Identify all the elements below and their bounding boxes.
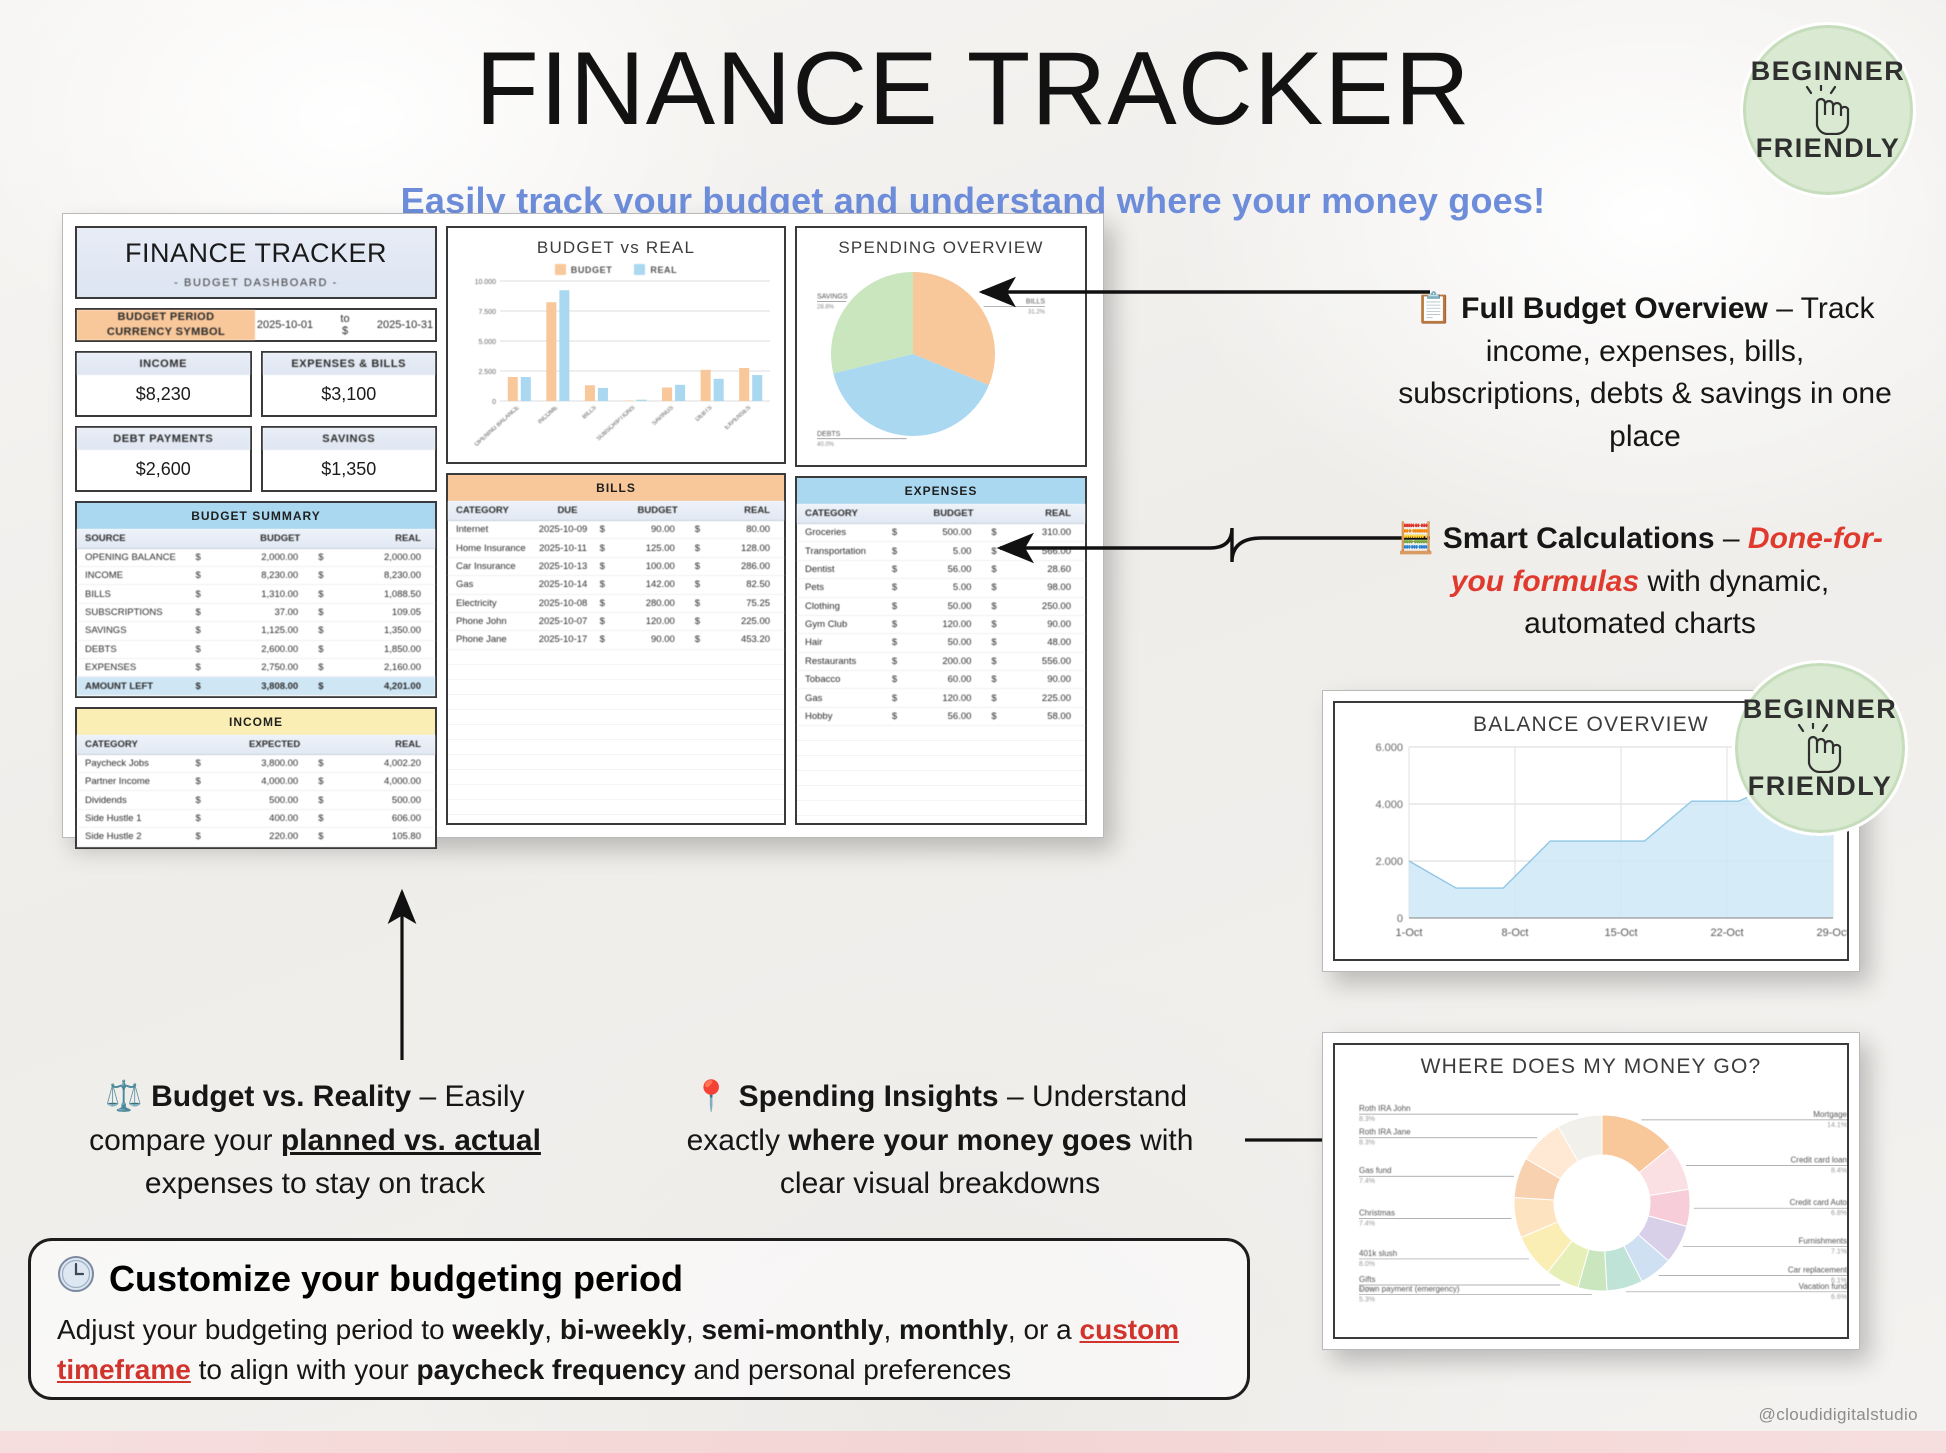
cell-currency: $ bbox=[189, 552, 218, 563]
legend-label: REAL bbox=[650, 265, 677, 275]
cell-currency: $ bbox=[189, 795, 218, 806]
cell-amount: 1,350.00 bbox=[342, 625, 435, 636]
svg-text:DEBTS: DEBTS bbox=[695, 405, 714, 423]
cell-name: Phone John bbox=[448, 616, 532, 627]
cell-currency: $ bbox=[886, 637, 910, 648]
table-row[interactable]: Transportation$5.00$566.00 bbox=[797, 542, 1085, 560]
svg-text:14.1%: 14.1% bbox=[1827, 1122, 1847, 1129]
annotation-rest: expenses to stay on track bbox=[145, 1167, 485, 1200]
cell-name: Side Hustle 1 bbox=[77, 813, 189, 824]
stat-value: $3,100 bbox=[263, 375, 436, 415]
callout-heading: Customize your budgeting period bbox=[109, 1258, 683, 1300]
svg-text:28.8%: 28.8% bbox=[817, 304, 835, 310]
svg-text:8-Oct: 8-Oct bbox=[1502, 927, 1529, 939]
table-row[interactable]: BILLS$1,310.00$1,088.50 bbox=[77, 585, 435, 603]
cell-amount: 56.00 bbox=[910, 711, 985, 722]
cell-currency: $ bbox=[886, 674, 910, 685]
annotation-bold2: where your money goes bbox=[788, 1124, 1131, 1157]
legend-swatch bbox=[555, 264, 566, 275]
cell-name: Electricity bbox=[448, 598, 532, 609]
cell-currency: $ bbox=[312, 813, 341, 824]
cell-currency: $ bbox=[312, 662, 341, 673]
cell-currency: $ bbox=[189, 644, 218, 655]
svg-text:7.500: 7.500 bbox=[478, 309, 496, 316]
svg-text:4.000: 4.000 bbox=[1375, 799, 1403, 811]
cell-currency: $ bbox=[312, 795, 341, 806]
annotation-underlined: planned vs. actual bbox=[281, 1124, 541, 1157]
cell-amount: 60.00 bbox=[910, 674, 985, 685]
svg-text:DEBTS: DEBTS bbox=[817, 431, 841, 438]
svg-text:40.0%: 40.0% bbox=[817, 442, 835, 448]
cell-amount: 4,000.00 bbox=[219, 776, 312, 787]
pin-icon: 📍 bbox=[693, 1080, 730, 1113]
cell-amount: 2,000.00 bbox=[342, 552, 435, 563]
callout-semi-monthly: semi-monthly bbox=[701, 1314, 883, 1345]
cell-amount: 500.00 bbox=[342, 795, 435, 806]
table-column-headers: SOURCE BUDGET REAL bbox=[77, 529, 435, 549]
cell-amount: 120.00 bbox=[910, 619, 985, 630]
expenses-table[interactable]: EXPENSES CATEGORY BUDGET REAL Groceries$… bbox=[795, 476, 1087, 825]
cell-currency: $ bbox=[189, 625, 218, 636]
cell-currency: $ bbox=[189, 607, 218, 618]
legend-swatch bbox=[634, 264, 645, 275]
cell-amount: 58.00 bbox=[1010, 711, 1085, 722]
beginner-friendly-badge-top: BEGINNER FRIENDLY bbox=[1740, 22, 1916, 198]
table-row[interactable]: Pets$5.00$98.00 bbox=[797, 579, 1085, 597]
stat-card-income: INCOME $8,230 bbox=[75, 351, 252, 417]
cell-currency: $ bbox=[312, 625, 341, 636]
spending-overview-chart-card: SPENDING OVERVIEW BILLS31.2%DEBTS40.0%SA… bbox=[795, 226, 1087, 467]
table-header: BILLS bbox=[448, 475, 784, 501]
svg-text:15-Oct: 15-Oct bbox=[1604, 927, 1637, 939]
cell-name: Dentist bbox=[797, 564, 886, 575]
cell-currency: $ bbox=[985, 711, 1009, 722]
stat-value: $8,230 bbox=[77, 375, 250, 415]
scales-icon: ⚖️ bbox=[105, 1080, 142, 1113]
cell-amount: 8,230.00 bbox=[219, 570, 312, 581]
table-row[interactable]: Side Hustle 1$400.00$606.00 bbox=[77, 810, 435, 828]
cell-amount: 109.05 bbox=[342, 607, 435, 618]
cell-currency: $ bbox=[985, 546, 1009, 557]
table-row[interactable]: Car Insurance2025-10-13$100.00$286.00 bbox=[448, 558, 784, 576]
cell-amount: 120.00 bbox=[617, 616, 689, 627]
stat-cards: INCOME $8,230 EXPENSES & BILLS $3,100 DE… bbox=[75, 351, 437, 492]
cell-amount: 500.00 bbox=[219, 795, 312, 806]
cell-name: Side Hustle 2 bbox=[77, 831, 189, 842]
cell-name: Hobby bbox=[797, 711, 886, 722]
cell-amount: 98.00 bbox=[1010, 582, 1085, 593]
cell-currency: $ bbox=[886, 656, 910, 667]
beginner-friendly-badge-bottom: BEGINNER FRIENDLY bbox=[1732, 660, 1908, 836]
cell-amount: 2,000.00 bbox=[219, 552, 312, 563]
svg-text:8.3%: 8.3% bbox=[1359, 1116, 1375, 1123]
annotation-bold: Smart Calculations bbox=[1443, 522, 1715, 555]
cell-amount: 556.00 bbox=[1010, 656, 1085, 667]
cell-amount: 56.00 bbox=[910, 564, 985, 575]
budget-dashboard-sheet[interactable]: FINANCE TRACKER - BUDGET DASHBOARD - BUD… bbox=[62, 213, 1104, 838]
cell-amount: 280.00 bbox=[617, 598, 689, 609]
table-row[interactable]: Hair$50.00$48.00 bbox=[797, 634, 1085, 652]
cell-amount: 8,230.00 bbox=[342, 570, 435, 581]
svg-text:7.4%: 7.4% bbox=[1359, 1221, 1375, 1228]
cell-amount: 453.20 bbox=[712, 634, 784, 645]
cell-currency: $ bbox=[312, 831, 341, 842]
annotation-bold: Budget vs. Reality bbox=[151, 1080, 411, 1113]
col-header: SOURCE bbox=[77, 533, 193, 544]
watermark: @cloudidigitalstudio bbox=[1759, 1405, 1918, 1425]
table-row[interactable]: EXPENSES$2,750.00$2,160.00 bbox=[77, 659, 435, 677]
cell-currency: $ bbox=[689, 616, 712, 627]
cell-name: Home Insurance bbox=[448, 543, 532, 554]
cell-currency: $ bbox=[985, 619, 1009, 630]
table-header: EXPENSES bbox=[797, 478, 1085, 504]
table-row[interactable]: Side Hustle 2$220.00$105.80 bbox=[77, 828, 435, 846]
cell-currency: $ bbox=[689, 543, 712, 554]
cell-currency: $ bbox=[886, 601, 910, 612]
cell-currency: $ bbox=[594, 579, 617, 590]
callout-biweekly: bi-weekly bbox=[560, 1314, 686, 1345]
callout-weekly: weekly bbox=[452, 1314, 544, 1345]
cell-amount: 50.00 bbox=[910, 637, 985, 648]
cell-name: SAVINGS bbox=[77, 625, 189, 636]
callout-monthly: monthly bbox=[899, 1314, 1008, 1345]
cell-amount: 220.00 bbox=[219, 831, 312, 842]
svg-text:SUBSCRIPTIONS: SUBSCRIPTIONS bbox=[596, 405, 636, 442]
table-row[interactable]: Phone John2025-10-07$120.00$225.00 bbox=[448, 613, 784, 631]
cell-amount: 2,600.00 bbox=[219, 644, 312, 655]
table-row[interactable]: SAVINGS$1,125.00$1,350.00 bbox=[77, 622, 435, 640]
table-row[interactable]: Dentist$56.00$28.60 bbox=[797, 561, 1085, 579]
cell-amount: 105.80 bbox=[342, 831, 435, 842]
cell-amount: 4,002.20 bbox=[342, 758, 435, 769]
annotation-full-budget: 📋 Full Budget Overview – Track income, e… bbox=[1390, 288, 1900, 458]
cell-name: Gym Club bbox=[797, 619, 886, 630]
svg-text:7.4%: 7.4% bbox=[1359, 1178, 1375, 1185]
col-header: DUE bbox=[536, 505, 600, 516]
stat-label: INCOME bbox=[77, 353, 250, 375]
cell-amount: 200.00 bbox=[910, 656, 985, 667]
cell-amount: 310.00 bbox=[1010, 527, 1085, 538]
cell-name: EXPENSES bbox=[77, 662, 189, 673]
cell-amount: 3,800.00 bbox=[219, 758, 312, 769]
table-row[interactable]: OPENING BALANCE$2,000.00$2,000.00 bbox=[77, 549, 435, 567]
table-row[interactable]: Gym Club$120.00$90.00 bbox=[797, 616, 1085, 634]
col-header: BUDGET bbox=[218, 533, 314, 544]
cell-currency: $ bbox=[312, 758, 341, 769]
table-row[interactable]: Hobby$56.00$58.00 bbox=[797, 708, 1085, 726]
chart-title: WHERE DOES MY MONEY GO? bbox=[1347, 1055, 1835, 1079]
svg-text:8.4%: 8.4% bbox=[1831, 1167, 1847, 1174]
cell-currency: $ bbox=[594, 598, 617, 609]
annotation-dash: – bbox=[1715, 522, 1748, 555]
cell-amount: 48.00 bbox=[1010, 637, 1085, 648]
cell-currency: $ bbox=[985, 656, 1009, 667]
cell-amount: 128.00 bbox=[712, 543, 784, 554]
table-row[interactable]: Home Insurance2025-10-11$125.00$128.00 bbox=[448, 539, 784, 557]
table-row[interactable]: Gas2025-10-14$142.00$82.50 bbox=[448, 576, 784, 594]
table-column-headers: CATEGORY BUDGET REAL bbox=[797, 504, 1085, 524]
svg-text:Credit card Auto: Credit card Auto bbox=[1790, 1198, 1848, 1207]
cell-currency: $ bbox=[985, 601, 1009, 612]
budget-summary-table[interactable]: BUDGET SUMMARY SOURCE BUDGET REAL OPENIN… bbox=[75, 501, 437, 698]
cell-currency: $ bbox=[985, 564, 1009, 575]
table-empty-rows bbox=[448, 650, 784, 823]
cell-currency: $ bbox=[594, 543, 617, 554]
cell-currency: $ bbox=[689, 561, 712, 572]
cell-currency: $ bbox=[985, 674, 1009, 685]
svg-text:Christmas: Christmas bbox=[1359, 1209, 1395, 1218]
cell-currency: $ bbox=[189, 662, 218, 673]
cell-currency: $ bbox=[886, 693, 910, 704]
cell-amount: 50.00 bbox=[910, 601, 985, 612]
donut-chart-svg: Mortgage14.1%Credit card loan8.4%Credit … bbox=[1347, 1079, 1857, 1327]
cell-amount: 82.50 bbox=[712, 579, 784, 590]
table-empty-rows bbox=[797, 726, 1085, 823]
svg-text:SAVINGS: SAVINGS bbox=[651, 405, 675, 427]
svg-text:10.000: 10.000 bbox=[475, 279, 497, 286]
svg-text:Credit card loan: Credit card loan bbox=[1791, 1155, 1847, 1164]
cell-currency: $ bbox=[985, 582, 1009, 593]
pie-chart-svg: BILLS31.2%DEBTS40.0%SAVINGS28.8% bbox=[809, 258, 1077, 450]
cell-due: 2025-10-14 bbox=[532, 579, 593, 590]
clock-icon bbox=[57, 1255, 95, 1302]
svg-text:Car replacement: Car replacement bbox=[1788, 1266, 1848, 1275]
income-rows: Paycheck Jobs$3,800.00$4,002.20Partner I… bbox=[77, 755, 435, 847]
cell-due: 2025-10-13 bbox=[532, 561, 593, 572]
cell-amount: 4,000.00 bbox=[342, 776, 435, 787]
budget-vs-real-chart-card: BUDGET vs REAL BUDGET REAL 10.0007.5005.… bbox=[446, 226, 786, 464]
cell-currency: $ bbox=[689, 579, 712, 590]
col-header: CATEGORY bbox=[797, 508, 890, 519]
table-row[interactable]: Restaurants$200.00$556.00 bbox=[797, 653, 1085, 671]
chart-title: SPENDING OVERVIEW bbox=[809, 238, 1073, 258]
svg-text:22-Oct: 22-Oct bbox=[1710, 927, 1743, 939]
cell-name: INCOME bbox=[77, 570, 189, 581]
cell-amount: 75.25 bbox=[712, 598, 784, 609]
col-header: BUDGET bbox=[617, 505, 692, 516]
budget-period-values[interactable]: 2025-10-01 to $ 2025-10-31 bbox=[255, 310, 435, 340]
hand-click-icon bbox=[1789, 723, 1851, 773]
cell-amount: 400.00 bbox=[219, 813, 312, 824]
svg-text:6.6%: 6.6% bbox=[1831, 1294, 1847, 1301]
cell-amount: 225.00 bbox=[1010, 693, 1085, 704]
cell-due: 2025-10-17 bbox=[532, 634, 593, 645]
svg-text:OPENING BALANCE: OPENING BALANCE bbox=[474, 405, 521, 447]
annotation-budget-vs-reality: ⚖️ Budget vs. Reality – Easily compare y… bbox=[80, 1075, 550, 1206]
cell-amount: 2,750.00 bbox=[219, 662, 312, 673]
table-row[interactable]: Clothing$50.00$250.00 bbox=[797, 598, 1085, 616]
cell-amount: 1,850.00 bbox=[342, 644, 435, 655]
cell-amount: 1,088.50 bbox=[342, 589, 435, 600]
cell-name: OPENING BALANCE bbox=[77, 552, 189, 563]
col-header: EXPECTED bbox=[218, 739, 314, 750]
cell-amount: 90.00 bbox=[1010, 619, 1085, 630]
svg-text:0: 0 bbox=[1397, 913, 1403, 925]
cell-amount: 1,125.00 bbox=[219, 625, 312, 636]
cell-currency: $ bbox=[594, 634, 617, 645]
cell-currency: $ bbox=[985, 527, 1009, 538]
callout-body: Adjust your budgeting period to weekly, … bbox=[57, 1310, 1221, 1390]
stat-card-savings: SAVINGS $1,350 bbox=[261, 426, 438, 492]
cell-currency: $ bbox=[189, 758, 218, 769]
svg-text:Gas fund: Gas fund bbox=[1359, 1166, 1391, 1175]
bottom-strip bbox=[0, 1431, 1946, 1453]
cell-name: Tobacco bbox=[797, 674, 886, 685]
table-row[interactable]: Electricity2025-10-08$280.00$75.25 bbox=[448, 595, 784, 613]
svg-text:Roth IRA John: Roth IRA John bbox=[1359, 1104, 1411, 1113]
cell-due: 2025-10-07 bbox=[532, 616, 593, 627]
cell-currency: $ bbox=[886, 582, 910, 593]
cell-name: DEBTS bbox=[77, 644, 189, 655]
clipboard-icon: 📋 bbox=[1415, 292, 1452, 325]
svg-text:Mortgage: Mortgage bbox=[1813, 1110, 1847, 1119]
badge-top-label: BEGINNER bbox=[1751, 58, 1906, 85]
cell-due: 2025-10-08 bbox=[532, 598, 593, 609]
bills-table[interactable]: BILLS CATEGORY DUE BUDGET REAL Internet2… bbox=[446, 473, 786, 825]
cell-currency: $ bbox=[985, 693, 1009, 704]
cell-amount: 100.00 bbox=[617, 561, 689, 572]
svg-text:Roth IRA Jane: Roth IRA Jane bbox=[1359, 1128, 1411, 1137]
cell-currency: $ bbox=[594, 524, 617, 535]
currency-symbol[interactable]: $ bbox=[342, 325, 348, 337]
col-header: REAL bbox=[1006, 508, 1085, 519]
col-header: CATEGORY bbox=[77, 739, 193, 750]
cell-amount: 286.00 bbox=[712, 561, 784, 572]
cell-currency: $ bbox=[886, 546, 910, 557]
cell-currency: $ bbox=[689, 524, 712, 535]
legend-label: BUDGET bbox=[571, 265, 613, 275]
hand-click-icon bbox=[1797, 85, 1859, 135]
budget-period-row[interactable]: BUDGET PERIOD CURRENCY SYMBOL 2025-10-01… bbox=[75, 308, 437, 342]
sheet-title-box: FINANCE TRACKER - BUDGET DASHBOARD - bbox=[75, 226, 437, 299]
svg-text:Vacation fund: Vacation fund bbox=[1799, 1282, 1847, 1291]
cell-amount: 5.00 bbox=[910, 546, 985, 557]
cell-amount: 120.00 bbox=[910, 693, 985, 704]
cell-amount: 500.00 bbox=[910, 527, 985, 538]
cell-name: Hair bbox=[797, 637, 886, 648]
table-column-headers: CATEGORY EXPECTED REAL bbox=[77, 735, 435, 755]
cell-currency: $ bbox=[886, 619, 910, 630]
cell-currency: $ bbox=[189, 813, 218, 824]
cell-amount: 37.00 bbox=[219, 607, 312, 618]
cell-currency: $ bbox=[594, 616, 617, 627]
cell-amount: 250.00 bbox=[1010, 601, 1085, 612]
table-row[interactable]: Groceries$500.00$310.00 bbox=[797, 524, 1085, 542]
income-table[interactable]: INCOME CATEGORY EXPECTED REAL Paycheck J… bbox=[75, 707, 437, 849]
table-row[interactable]: SUBSCRIPTIONS$37.00$109.05 bbox=[77, 604, 435, 622]
cell-name: Car Insurance bbox=[448, 561, 532, 572]
badge-bottom-label-2: FRIENDLY bbox=[1748, 773, 1893, 800]
calculator-icon: 🧮 bbox=[1397, 522, 1434, 555]
table-row[interactable]: Gas$120.00$225.00 bbox=[797, 689, 1085, 707]
table-total-row: AMOUNT LEFT$3,808.00$4,201.00 bbox=[77, 677, 435, 695]
table-row[interactable]: Paycheck Jobs$3,800.00$4,002.20 bbox=[77, 755, 435, 773]
legend-item-real: REAL bbox=[634, 264, 677, 275]
period-label-line1: BUDGET PERIOD bbox=[118, 311, 215, 323]
svg-text:2.500: 2.500 bbox=[478, 369, 496, 376]
table-row[interactable]: Partner Income$4,000.00$4,000.00 bbox=[77, 773, 435, 791]
table-row[interactable]: Dividends$500.00$500.00 bbox=[77, 791, 435, 809]
cell-name: Partner Income bbox=[77, 776, 189, 787]
col-header: REAL bbox=[709, 505, 784, 516]
badge-top-label-2: BEGINNER bbox=[1743, 696, 1898, 723]
table-row[interactable]: Tobacco$60.00$90.00 bbox=[797, 671, 1085, 689]
cell-name: Clothing bbox=[797, 601, 886, 612]
table-row[interactable]: DEBTS$2,600.00$1,850.00 bbox=[77, 641, 435, 659]
period-start[interactable]: 2025-10-01 bbox=[255, 319, 315, 331]
cell-due: 2025-10-11 bbox=[532, 543, 593, 554]
stat-label: SAVINGS bbox=[263, 428, 436, 450]
table-row[interactable]: Internet2025-10-09$90.00$80.00 bbox=[448, 521, 784, 539]
cell-currency: $ bbox=[312, 589, 341, 600]
cell-amount: 90.00 bbox=[617, 524, 689, 535]
money-go-chart-card: WHERE DOES MY MONEY GO? Mortgage14.1%Cre… bbox=[1333, 1043, 1849, 1339]
svg-text:7.1%: 7.1% bbox=[1831, 1249, 1847, 1256]
stat-card-debt-payments: DEBT PAYMENTS $2,600 bbox=[75, 426, 252, 492]
cell-currency: $ bbox=[985, 637, 1009, 648]
svg-text:5.000: 5.000 bbox=[478, 339, 496, 346]
annotation-bold: Spending Insights bbox=[739, 1080, 999, 1113]
cell-amount: 28.60 bbox=[1010, 564, 1085, 575]
cell-due: 2025-10-09 bbox=[532, 524, 593, 535]
svg-text:Furnishments: Furnishments bbox=[1799, 1237, 1847, 1246]
cell-name: Groceries bbox=[797, 527, 886, 538]
badge-bottom-label: FRIENDLY bbox=[1756, 135, 1901, 162]
svg-text:Gifts: Gifts bbox=[1359, 1275, 1375, 1284]
chart-legend: BUDGET REAL bbox=[460, 264, 772, 275]
budget-period-label: BUDGET PERIOD CURRENCY SYMBOL bbox=[77, 310, 255, 340]
table-column-headers: CATEGORY DUE BUDGET REAL bbox=[448, 501, 784, 521]
cell-currency: $ bbox=[189, 589, 218, 600]
cell-name: Gas bbox=[797, 693, 886, 704]
cell-amount: 566.00 bbox=[1010, 546, 1085, 557]
svg-text:8.3%: 8.3% bbox=[1359, 1140, 1375, 1147]
cell-currency: $ bbox=[312, 552, 341, 563]
cell-currency: $ bbox=[312, 776, 341, 787]
cell-name: Gas bbox=[448, 579, 532, 590]
stat-value: $1,350 bbox=[263, 450, 436, 490]
period-label-line2: CURRENCY SYMBOL bbox=[107, 326, 225, 338]
table-row[interactable]: INCOME$8,230.00$8,230.00 bbox=[77, 567, 435, 585]
table-row[interactable]: Phone Jane2025-10-17$90.00$453.20 bbox=[448, 631, 784, 649]
cell-name: Dividends bbox=[77, 795, 189, 806]
svg-text:BILLS: BILLS bbox=[1026, 299, 1045, 306]
cell-amount: 142.00 bbox=[617, 579, 689, 590]
annotation-spending-insights: 📍 Spending Insights – Understand exactly… bbox=[660, 1075, 1220, 1206]
cell-name: Transportation bbox=[797, 546, 886, 557]
cell-name: Paycheck Jobs bbox=[77, 758, 189, 769]
money-go-sheet[interactable]: WHERE DOES MY MONEY GO? Mortgage14.1%Cre… bbox=[1322, 1032, 1860, 1350]
cell-name: Internet bbox=[448, 524, 532, 535]
col-header: BUDGET bbox=[909, 508, 988, 519]
svg-text:2.000: 2.000 bbox=[1375, 856, 1403, 868]
cell-currency: $ bbox=[312, 570, 341, 581]
svg-text:29-Oct: 29-Oct bbox=[1816, 927, 1847, 939]
period-end[interactable]: 2025-10-31 bbox=[375, 319, 435, 331]
sheet-title: FINANCE TRACKER bbox=[77, 238, 435, 269]
svg-text:6.2%: 6.2% bbox=[1359, 1287, 1375, 1294]
callout-paycheck-frequency: paycheck frequency bbox=[417, 1354, 686, 1385]
svg-text:SAVINGS: SAVINGS bbox=[817, 293, 848, 300]
callout-heading-row: Customize your budgeting period bbox=[57, 1255, 1221, 1302]
cell-name: Phone Jane bbox=[448, 634, 532, 645]
cell-currency: $ bbox=[689, 598, 712, 609]
annotation-bold: Full Budget Overview bbox=[1461, 292, 1768, 325]
customize-period-callout: Customize your budgeting period Adjust y… bbox=[28, 1238, 1250, 1400]
stat-card-expenses: EXPENSES & BILLS $3,100 bbox=[261, 351, 438, 417]
cell-amount: 1,310.00 bbox=[219, 589, 312, 600]
svg-text:EXPENSES: EXPENSES bbox=[724, 405, 752, 431]
